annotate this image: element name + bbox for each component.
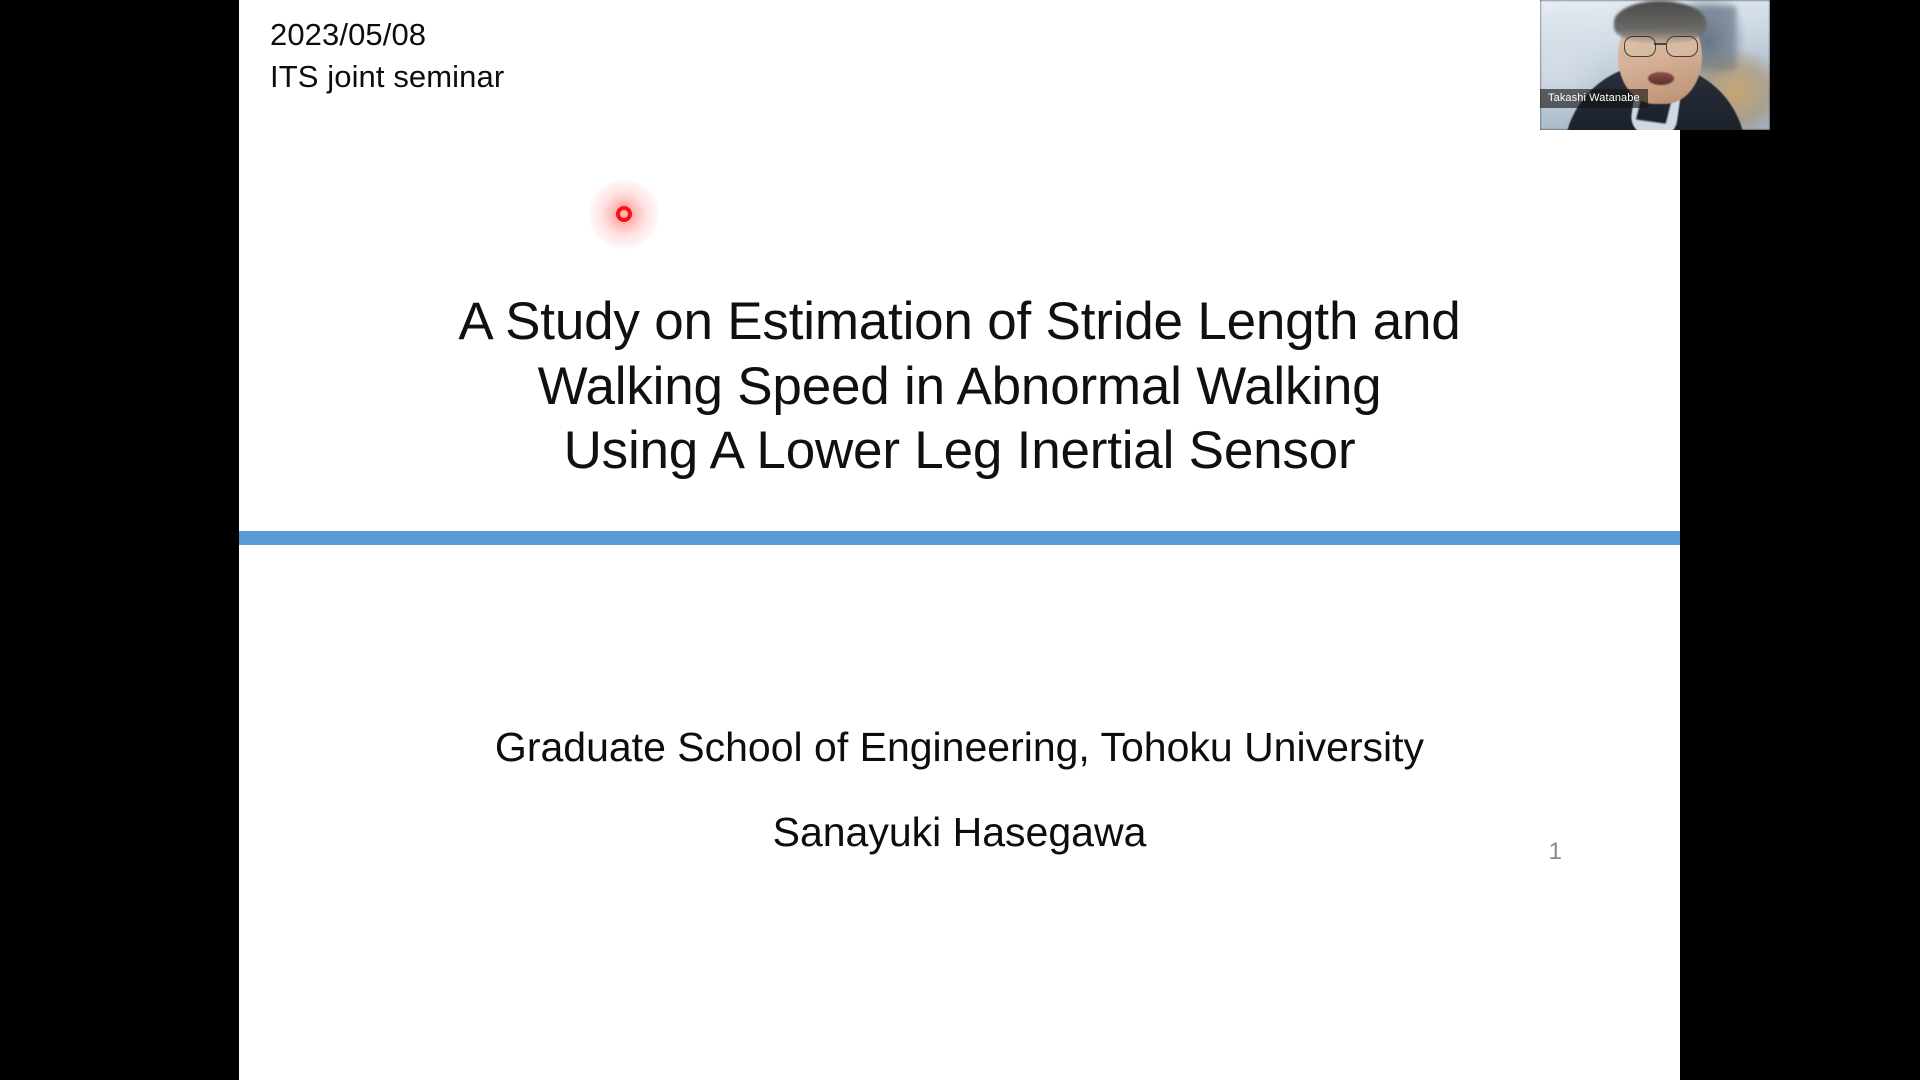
page-number: 1 (1549, 838, 1562, 866)
slide-canvas[interactable]: 2023/05/08 ITS joint seminar A Study on … (239, 0, 1680, 1080)
title-line-2: Walking Speed in Abnormal Walking (299, 355, 1620, 420)
laser-pointer-dot (616, 206, 632, 222)
glasses-bridge (1654, 43, 1666, 45)
slide-byline: Graduate School of Engineering, Tohoku U… (299, 720, 1620, 861)
glasses-icon (1624, 36, 1698, 55)
participant-name-label: Takashi Watanabe (1540, 89, 1648, 108)
seminar-name: ITS joint seminar (270, 56, 504, 98)
seminar-date: 2023/05/08 (270, 14, 504, 56)
webcam-speaker-mouth (1648, 72, 1674, 85)
slide-header: 2023/05/08 ITS joint seminar (270, 14, 504, 98)
title-accent-bar (239, 531, 1680, 545)
webcam-video-tile[interactable]: Takashi Watanabe (1540, 0, 1770, 130)
laser-pointer-icon (589, 179, 659, 249)
glasses-lens-left (1624, 36, 1656, 57)
title-line-1: A Study on Estimation of Stride Length a… (299, 290, 1620, 355)
presentation-stage: 2023/05/08 ITS joint seminar A Study on … (0, 0, 1920, 1080)
laser-pointer-glow (589, 179, 659, 249)
title-line-3: Using A Lower Leg Inertial Sensor (299, 419, 1620, 484)
slide-title: A Study on Estimation of Stride Length a… (299, 290, 1620, 484)
glasses-lens-right (1666, 36, 1698, 57)
affiliation-text: Graduate School of Engineering, Tohoku U… (299, 720, 1620, 775)
author-name: Sanayuki Hasegawa (299, 805, 1620, 860)
